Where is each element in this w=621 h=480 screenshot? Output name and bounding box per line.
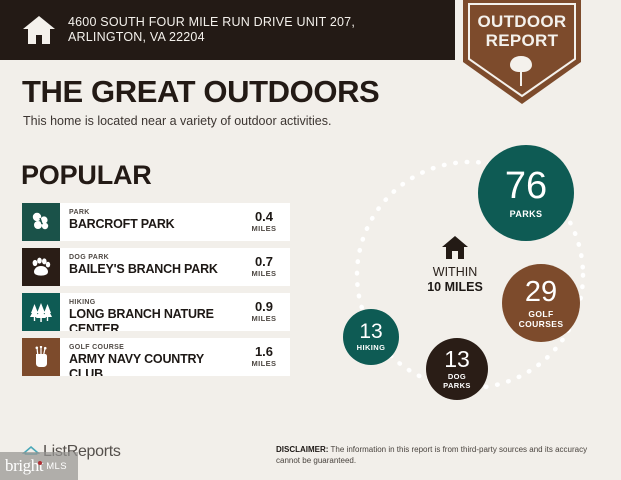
- paw-print-icon: [30, 256, 52, 278]
- list-item-name: BAILEY'S BRANCH PARK: [69, 262, 238, 277]
- distance-unit: MILES: [238, 314, 290, 323]
- center-marker: WITHIN 10 MILES: [400, 235, 510, 295]
- list-item-text: PARK BARCROFT PARK: [60, 203, 238, 241]
- disclaimer: DISCLAIMER: The information in this repo…: [276, 444, 606, 466]
- list-item-distance: 0.4 MILES: [238, 203, 290, 241]
- list-item-distance: 0.9 MILES: [238, 293, 290, 331]
- watermark-brand: bright: [5, 456, 43, 476]
- home-icon: [441, 235, 469, 260]
- watermark-suffix: MLS: [46, 461, 67, 472]
- center-label-line1: WITHIN: [400, 265, 510, 280]
- disclaimer-label: DISCLAIMER:: [276, 445, 328, 454]
- distance-unit: MILES: [238, 224, 290, 233]
- popular-list: PARK BARCROFT PARK 0.4 MILES DOG PARK BA…: [22, 203, 290, 383]
- bright-mls-watermark: bright MLS: [0, 452, 78, 480]
- distance-value: 0.9: [238, 300, 290, 314]
- pine-trees-icon-box: [22, 293, 60, 331]
- distance-value: 0.4: [238, 210, 290, 224]
- pine-trees-icon: [29, 302, 53, 322]
- list-item-name: BARCROFT PARK: [69, 217, 238, 232]
- stat-bubble-dog-parks[interactable]: 13 DOG PARKS: [426, 338, 488, 400]
- stat-value: 29: [525, 278, 557, 307]
- park-tree-icon: [30, 211, 52, 233]
- page-title: THE GREAT OUTDOORS: [22, 74, 379, 110]
- paw-print-icon-box: [22, 248, 60, 286]
- list-item-text: HIKING LONG BRANCH NATURE CENTER: [60, 293, 238, 331]
- list-item-name: ARMY NAVY COUNTRY CLUB: [69, 352, 238, 376]
- stat-bubble-parks[interactable]: 76 PARKS: [478, 145, 574, 241]
- list-item[interactable]: HIKING LONG BRANCH NATURE CENTER 0.9 MIL…: [22, 293, 290, 331]
- list-item-category: DOG PARK: [69, 253, 238, 262]
- distance-unit: MILES: [238, 359, 290, 368]
- list-item[interactable]: PARK BARCROFT PARK 0.4 MILES: [22, 203, 290, 241]
- list-item[interactable]: GOLF COURSE ARMY NAVY COUNTRY CLUB 1.6 M…: [22, 338, 290, 376]
- center-label-line2: 10 MILES: [400, 280, 510, 295]
- golf-bag-icon-box: [22, 338, 60, 376]
- stat-bubble-golf-courses[interactable]: 29 GOLF COURSES: [502, 264, 580, 342]
- stat-value: 76: [505, 167, 547, 205]
- page-subtitle: This home is located near a variety of o…: [23, 114, 331, 128]
- distance-unit: MILES: [238, 269, 290, 278]
- distance-value: 1.6: [238, 345, 290, 359]
- list-item-distance: 1.6 MILES: [238, 338, 290, 376]
- park-tree-icon-box: [22, 203, 60, 241]
- stat-value: 13: [359, 321, 382, 342]
- watermark-dot: [38, 461, 42, 465]
- stat-value: 13: [444, 348, 470, 371]
- golf-bag-icon: [31, 346, 51, 368]
- list-item-category: HIKING: [69, 298, 238, 307]
- list-item-category: GOLF COURSE: [69, 343, 238, 352]
- list-item-text: GOLF COURSE ARMY NAVY COUNTRY CLUB: [60, 338, 238, 376]
- stat-bubble-hiking[interactable]: 13 HIKING: [343, 309, 399, 365]
- header-bar: 4600 SOUTH FOUR MILE RUN DRIVE UNIT 207,…: [0, 0, 455, 60]
- list-item-name: LONG BRANCH NATURE CENTER: [69, 307, 238, 331]
- list-item-text: DOG PARK BAILEY'S BRANCH PARK: [60, 248, 238, 286]
- popular-heading: POPULAR: [21, 160, 152, 191]
- stat-label: GOLF COURSES: [519, 309, 564, 329]
- stat-label: PARKS: [510, 209, 543, 219]
- list-item[interactable]: DOG PARK BAILEY'S BRANCH PARK 0.7 MILES: [22, 248, 290, 286]
- list-item-category: PARK: [69, 208, 238, 217]
- home-icon: [22, 15, 56, 45]
- distance-value: 0.7: [238, 255, 290, 269]
- outdoor-report-badge: OUTDOOR REPORT: [463, 0, 581, 104]
- stat-label: DOG PARKS: [443, 372, 471, 390]
- within-10-miles-bubble-chart: 76 PARKS 29 GOLF COURSES 13 DOG PARKS 13…: [318, 135, 621, 425]
- header-address: 4600 SOUTH FOUR MILE RUN DRIVE UNIT 207,…: [68, 15, 355, 45]
- stat-label: HIKING: [357, 343, 386, 353]
- list-item-distance: 0.7 MILES: [238, 248, 290, 286]
